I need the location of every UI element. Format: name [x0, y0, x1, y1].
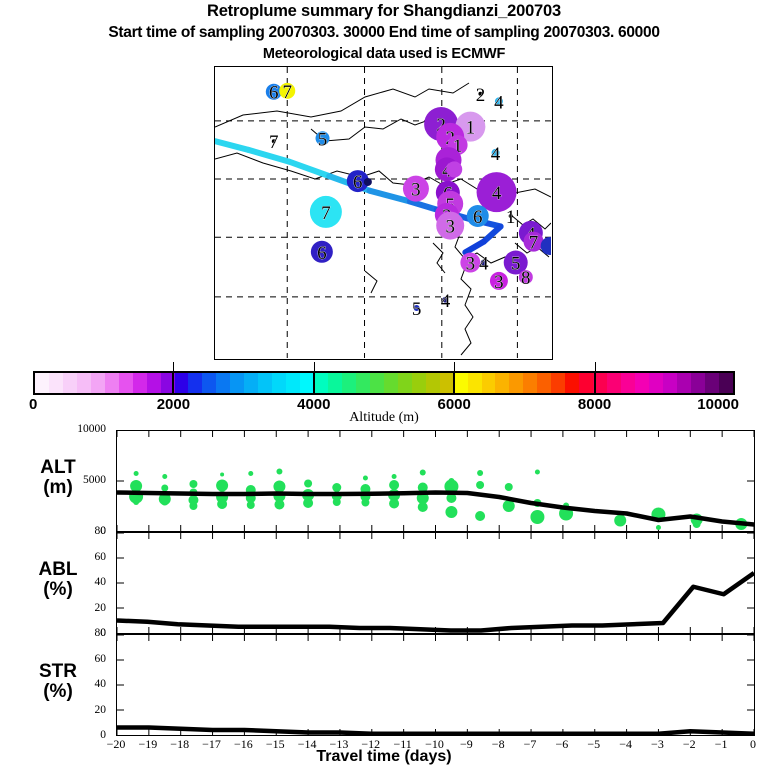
map-marker-label: 7: [529, 233, 539, 254]
colorbar-cell: [509, 373, 523, 393]
colorbar-cell: [482, 373, 496, 393]
altitude-scatter-point: [189, 502, 197, 510]
altitude-scatter-point: [332, 483, 341, 492]
colorbar-cell: [691, 373, 705, 393]
colorbar-cell: [314, 373, 328, 393]
altitude-scatter-point: [389, 480, 399, 490]
colorbar-cell: [49, 373, 63, 393]
map-marker-label: 4: [492, 183, 502, 204]
altitude-scatter-point: [276, 469, 282, 475]
altitude-scatter-point: [161, 498, 169, 506]
colorbar-tick: [314, 362, 315, 371]
colorbar-cell: [244, 373, 258, 393]
altitude-scatter-point: [445, 506, 457, 518]
y-axis-tick-label: 60: [62, 551, 106, 563]
altitude-plot-panel[interactable]: [116, 430, 755, 532]
map-canvas: 67756721214365334614763458354442: [215, 67, 551, 358]
map-marker-label: 7: [282, 82, 292, 103]
map-marker-label: 1: [506, 207, 516, 228]
altitude-scatter-point: [189, 480, 197, 488]
altitude-scatter-point: [530, 510, 544, 524]
altitude-scatter-point: [476, 481, 484, 489]
map-marker-label: 3: [466, 254, 476, 275]
colorbar-cell: [188, 373, 202, 393]
map-marker-label: 3: [445, 217, 455, 238]
altitude-scatter-point: [217, 499, 227, 509]
trajectory-segment: [289, 162, 329, 177]
trajectory-segment: [484, 226, 501, 241]
altitude-scatter-point: [248, 471, 253, 476]
map-marker-label: 4: [441, 291, 451, 312]
colorbar-cell: [91, 373, 105, 393]
str-plot-panel[interactable]: [116, 634, 755, 736]
map-marker-label: 2: [476, 85, 486, 106]
colorbar-cell: [328, 373, 342, 393]
y-axis-tick-label: 40: [62, 576, 106, 588]
page-title: Retroplume summary for Shangdianzi_20070…: [0, 2, 768, 21]
colorbar-cell: [412, 373, 426, 393]
colorbar-cell: [579, 373, 593, 393]
colorbar-tick: [595, 362, 596, 371]
map-marker[interactable]: [446, 161, 462, 177]
map-marker-label: 5: [318, 129, 328, 150]
trajectory-segment: [215, 141, 249, 150]
colorbar-cell: [607, 373, 621, 393]
map-marker-label: 3: [411, 180, 421, 201]
altitude-scatter-point: [303, 498, 313, 508]
altitude-scatter-point: [693, 520, 701, 528]
map-coastline: [461, 263, 473, 355]
colorbar-cell: [705, 373, 719, 393]
altitude-scatter-point: [133, 499, 139, 505]
colorbar-divider: [313, 371, 315, 395]
colorbar-cell: [230, 373, 244, 393]
altitude-scatter-point: [247, 501, 255, 509]
colorbar-cell: [398, 373, 412, 393]
map-marker-label: 1: [466, 118, 476, 139]
colorbar-cell: [35, 373, 49, 393]
colorbar-cell: [258, 373, 272, 393]
map-marker-label: 6: [473, 207, 483, 228]
colorbar-cell: [440, 373, 454, 393]
abl-panel-line: [117, 573, 754, 631]
colorbar-cell: [537, 373, 551, 393]
colorbar-divider: [453, 371, 455, 395]
colorbar-divider: [172, 371, 174, 395]
altitude-scatter-point: [477, 470, 483, 476]
x-axis-title: Travel time (days): [0, 748, 768, 766]
map-marker-label: 7: [321, 203, 331, 224]
altitude-scatter-point: [134, 471, 139, 476]
map-marker-label: 6: [353, 172, 363, 193]
colorbar-cell: [77, 373, 91, 393]
colorbar-cell: [635, 373, 649, 393]
y-axis-tick-label: 5000: [62, 474, 106, 486]
str-plot-canvas: [117, 635, 754, 735]
map-marker-label: 4: [479, 254, 489, 275]
colorbar-divider: [594, 371, 596, 395]
altitude-scatter-point: [162, 474, 167, 479]
retroplume-figure: Retroplume summary for Shangdianzi_20070…: [0, 0, 768, 768]
altitude-scatter-point: [392, 474, 397, 479]
colorbar-cell: [147, 373, 161, 393]
altitude-scatter-point: [535, 470, 540, 475]
altitude-scatter-point: [216, 480, 228, 492]
colorbar-cell: [342, 373, 356, 393]
y-axis-tick-label: 60: [62, 653, 106, 665]
abl-plot-canvas: [117, 533, 754, 633]
map-marker-label: 5: [511, 254, 520, 275]
colorbar-cell: [468, 373, 482, 393]
altitude-scatter-point: [656, 525, 661, 530]
sampling-time-subtitle: Start time of sampling 20070303. 30000 E…: [0, 24, 768, 42]
abl-plot-panel[interactable]: [116, 532, 755, 634]
y-axis-tick-label: 80: [62, 525, 106, 537]
colorbar-cell: [202, 373, 216, 393]
altitude-scatter-point: [304, 480, 312, 488]
colorbar-cell: [384, 373, 398, 393]
colorbar-axis-title: Altitude (m): [0, 410, 768, 426]
map-marker-label: 6: [269, 83, 279, 104]
map-marker-label: 4: [494, 92, 504, 113]
colorbar-cell: [495, 373, 509, 393]
colorbar-cell: [621, 373, 635, 393]
colorbar-cell: [63, 373, 77, 393]
map-marker[interactable]: [364, 178, 372, 186]
colorbar-cell: [175, 373, 189, 393]
colorbar-cell: [356, 373, 370, 393]
map-marker-label: 8: [521, 268, 531, 289]
altitude-scatter-point: [363, 476, 368, 481]
altitude-scatter-point: [333, 498, 341, 506]
altitude-scatter-point: [420, 470, 426, 476]
retroplume-map[interactable]: 67756721214365334614763458354442: [214, 66, 553, 360]
map-marker-label: 4: [491, 144, 501, 165]
y-axis-tick-label: 80: [62, 627, 106, 639]
colorbar-cell: [286, 373, 300, 393]
y-axis-tick-label: 10000: [62, 423, 106, 435]
colorbar-cell: [216, 373, 230, 393]
colorbar-cell: [119, 373, 133, 393]
altitude-scatter-point: [274, 500, 284, 510]
y-axis-tick-label: 40: [62, 678, 106, 690]
trajectory-segment: [465, 242, 483, 253]
colorbar-cell: [426, 373, 440, 393]
altitude-scatter-point: [220, 473, 224, 477]
colorbar-cell: [105, 373, 119, 393]
map-marker-label: 6: [317, 243, 327, 264]
y-axis-tick-label: 20: [62, 602, 106, 614]
altitude-scatter-point: [389, 499, 399, 509]
colorbar-tick: [454, 362, 455, 371]
trajectory-segment: [410, 201, 437, 209]
altitude-scatter-point: [161, 485, 168, 492]
map-marker-label: 5: [412, 299, 422, 320]
altitude-colorbar[interactable]: [33, 371, 735, 395]
colorbar-cell: [649, 373, 663, 393]
map-marker-label: 7: [269, 132, 279, 153]
met-data-note: Meteorological data used is ECMWF: [0, 46, 768, 62]
colorbar-cell: [719, 373, 733, 393]
y-axis-tick-label: 20: [62, 704, 106, 716]
colorbar-cell: [663, 373, 677, 393]
colorbar-cell: [523, 373, 537, 393]
map-coastline: [433, 243, 445, 273]
colorbar-cell: [272, 373, 286, 393]
colorbar-cell: [454, 373, 468, 393]
map-coastline: [365, 271, 377, 293]
colorbar-cell: [677, 373, 691, 393]
colorbar-cell: [565, 373, 579, 393]
altitude-plot-canvas: [117, 431, 754, 531]
altitude-scatter-point: [505, 483, 513, 491]
colorbar-tick: [173, 362, 174, 371]
altitude-scatter-point: [614, 515, 626, 527]
colorbar-cell: [551, 373, 565, 393]
altitude-scatter-point: [361, 499, 369, 507]
colorbar-cell: [133, 373, 147, 393]
altitude-scatter-point: [418, 502, 428, 512]
colorbar-cell: [370, 373, 384, 393]
altitude-scatter-point: [475, 511, 485, 521]
map-marker-label: 3: [494, 272, 504, 293]
